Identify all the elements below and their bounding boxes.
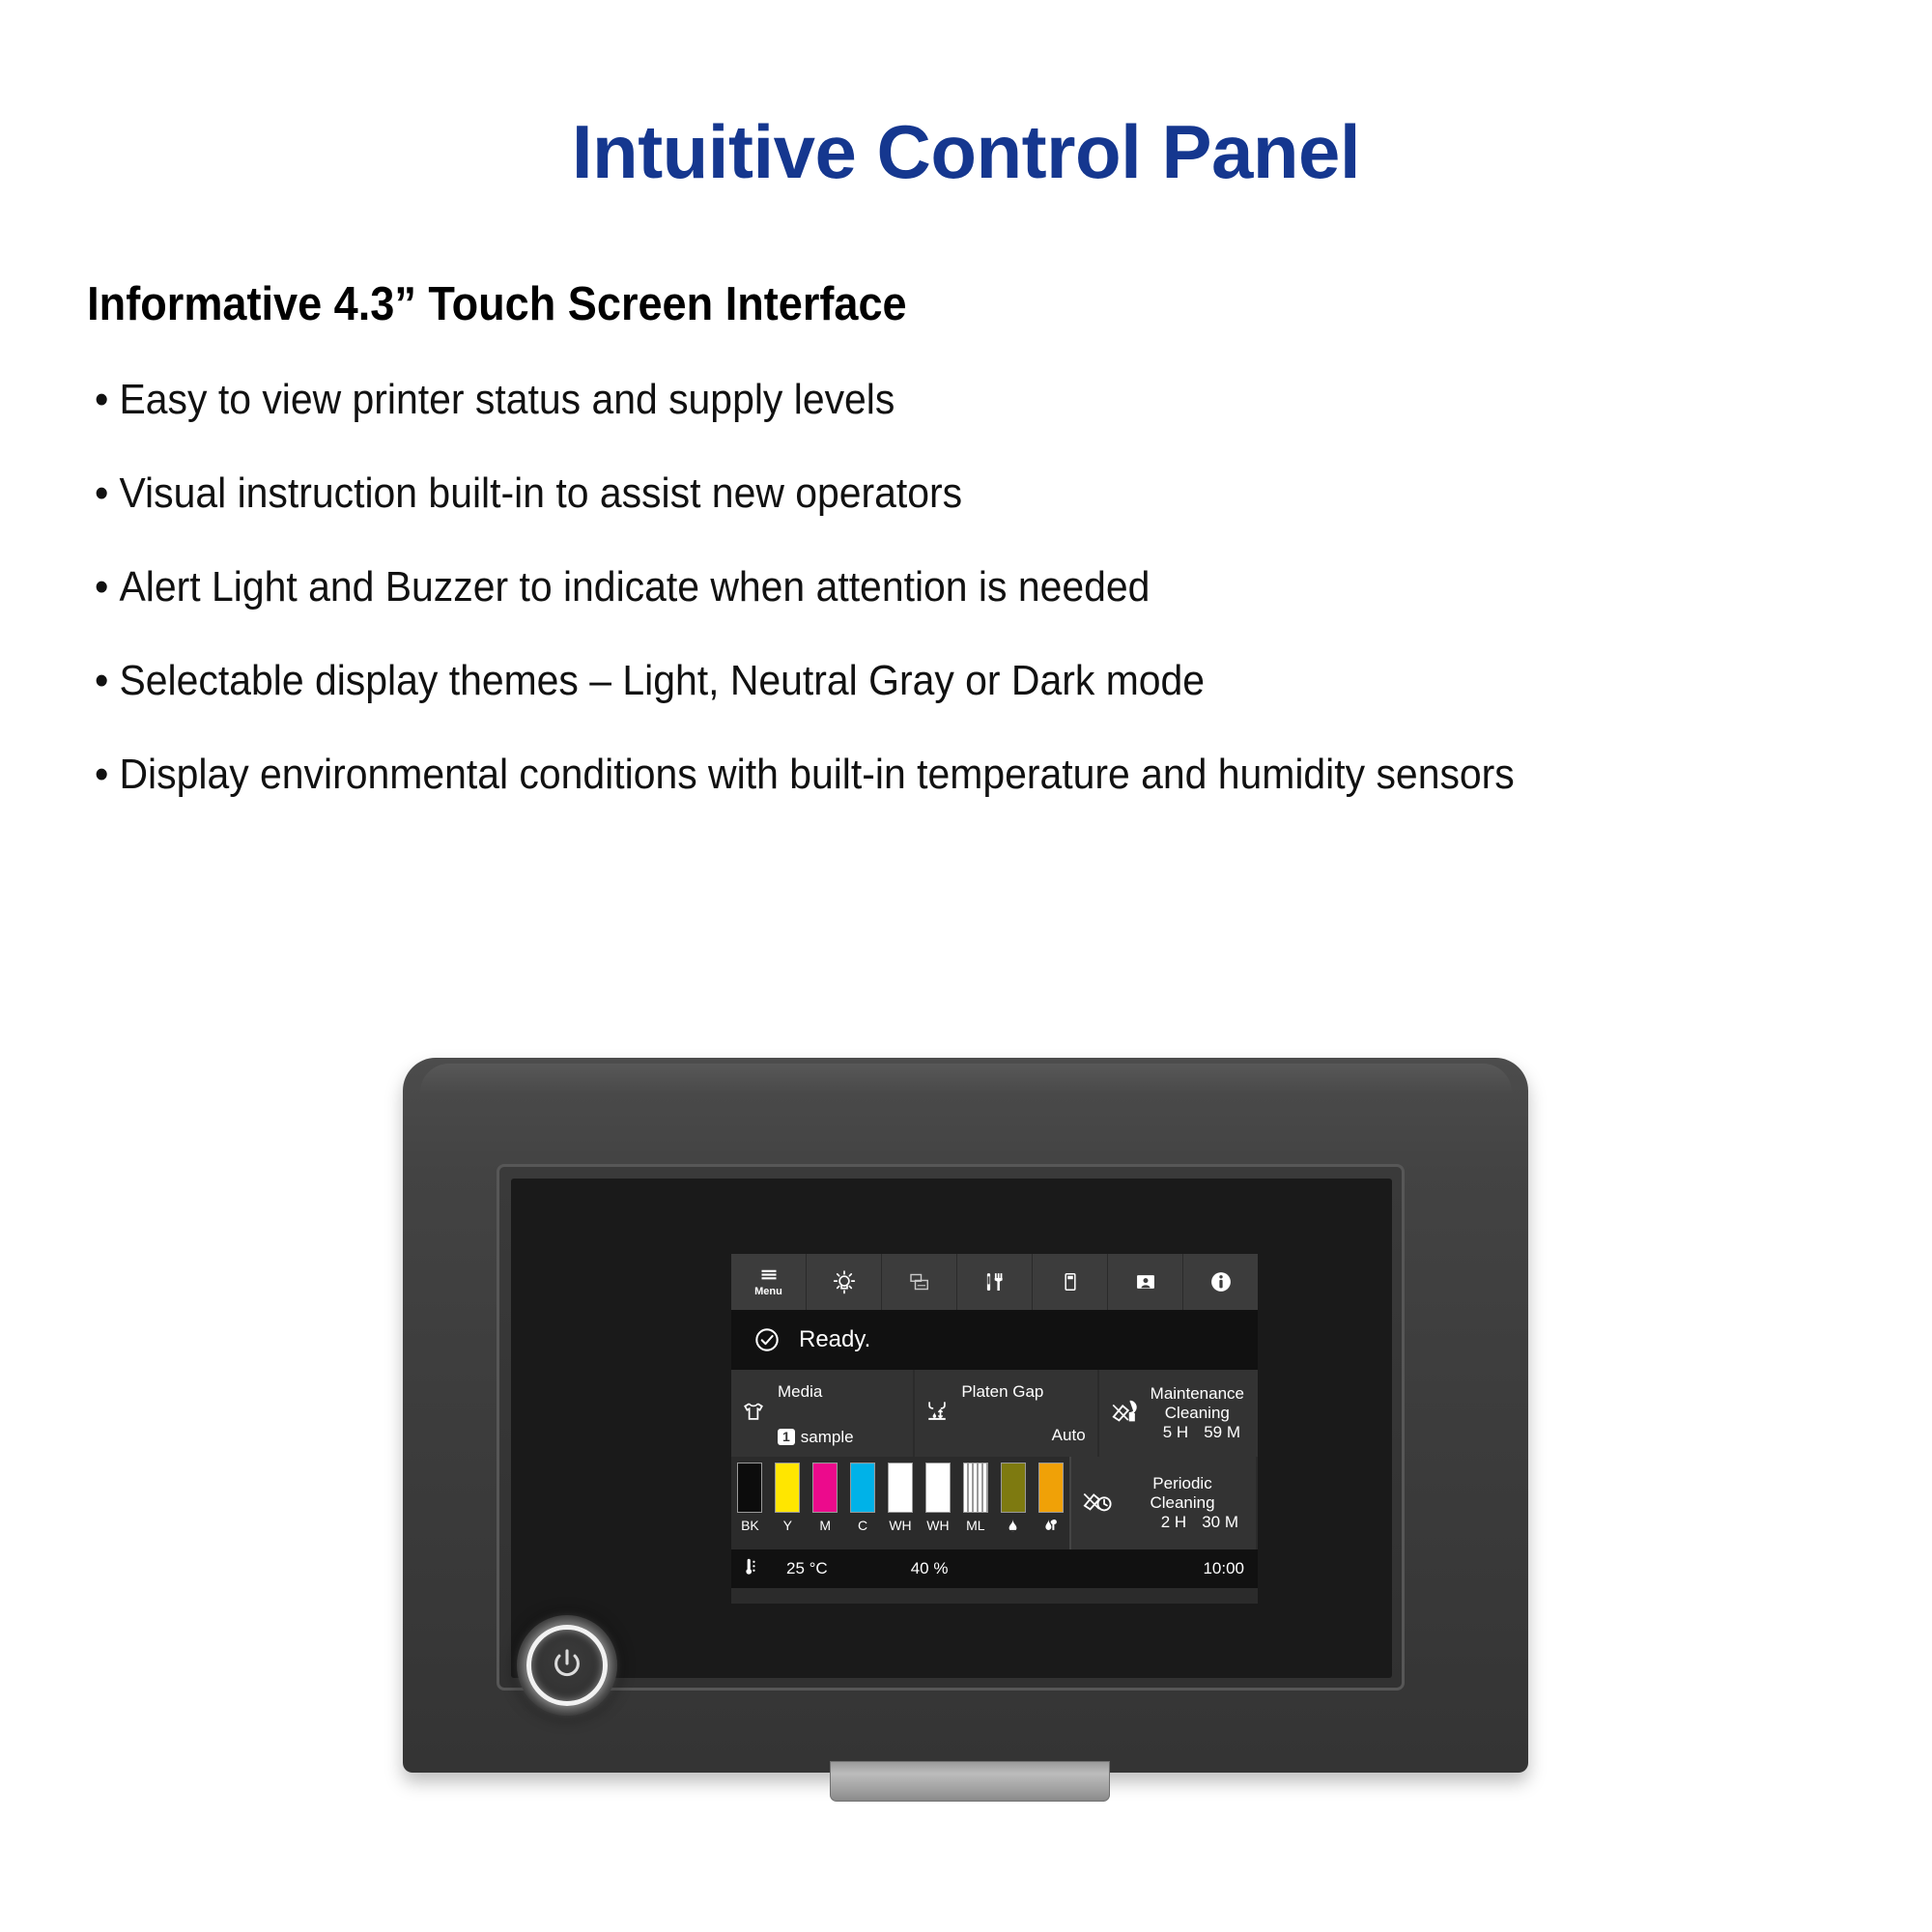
toolbar-button-menu[interactable]: Menu (731, 1254, 807, 1310)
lcd-status-bar: Ready. (731, 1310, 1258, 1370)
lcd-ink-row: BK Y M C (731, 1457, 1258, 1549)
env-clock-value: 10:00 (1203, 1559, 1244, 1578)
ink-cell[interactable]: Y (769, 1463, 807, 1532)
ink-label: ML (966, 1519, 984, 1532)
ink-cell-maintenance-part[interactable] (1032, 1463, 1069, 1538)
tile-periodic-minutes: 30 M (1202, 1513, 1238, 1532)
ink-level-swatch (812, 1463, 838, 1513)
section-subheading: Informative 4.3” Touch Screen Interface (0, 189, 1777, 328)
ink-cell[interactable]: C (844, 1463, 882, 1532)
tile-platen-gap[interactable]: Platen Gap Auto (915, 1370, 1098, 1457)
thermometer-icon (745, 1556, 759, 1582)
ink-level-swatch (850, 1463, 875, 1513)
tile-periodic-texts: Periodic Cleaning 2 H30 M (1122, 1474, 1248, 1532)
tile-media-value-group: 1 sample (778, 1429, 854, 1445)
housing-top-highlight (420, 1064, 1512, 1093)
check-circle-icon (753, 1325, 781, 1354)
tile-maintenance-line2: Cleaning (1165, 1404, 1230, 1422)
toolbar-button-light[interactable] (807, 1254, 882, 1310)
list-item-text: Easy to view printer status and supply l… (119, 376, 895, 423)
bullet-marker: • (95, 753, 108, 796)
toolbar-button-information[interactable] (1183, 1254, 1258, 1310)
list-item: •Alert Light and Buzzer to indicate when… (95, 566, 1804, 609)
tile-platen-gap-value: Auto (1052, 1427, 1086, 1443)
tile-platen-texts: Platen Gap Auto (959, 1370, 1089, 1457)
lcd-toolbar: Menu (731, 1254, 1258, 1310)
env-temperature-value: 25 °C (786, 1559, 828, 1578)
status-message: Ready. (799, 1328, 870, 1351)
ink-cell[interactable]: ML (956, 1463, 994, 1532)
platen-gap-icon (923, 1398, 952, 1430)
toolbar-button-user-card[interactable] (1108, 1254, 1183, 1310)
list-item-text: Selectable display themes – Light, Neutr… (119, 657, 1205, 704)
feature-bullet-list: •Easy to view printer status and supply … (0, 328, 1932, 796)
tile-maintenance-minutes: 59 M (1204, 1423, 1240, 1442)
list-item: •Display environmental conditions with b… (95, 753, 1804, 796)
tile-periodic-cleaning[interactable]: Periodic Cleaning 2 H30 M (1071, 1457, 1258, 1549)
lcd-info-row: Media 1 sample (731, 1370, 1258, 1457)
toolbar-button-job-queue[interactable] (882, 1254, 957, 1310)
list-item-text: Alert Light and Buzzer to indicate when … (119, 563, 1150, 611)
tile-maintenance-cleaning[interactable]: Maintenance Cleaning 5 H59 M (1099, 1370, 1258, 1457)
usb-drive-icon (1060, 1269, 1081, 1294)
tile-media-texts: Media 1 sample (776, 1370, 905, 1457)
light-bulb-icon (831, 1268, 858, 1295)
printer-control-panel-image: Menu (403, 1058, 1528, 1811)
ink-label: Y (783, 1519, 792, 1532)
tile-media[interactable]: Media 1 sample (731, 1370, 915, 1457)
ink-label: M (819, 1519, 831, 1532)
maintenance-cleaning-icon (1109, 1397, 1142, 1431)
tile-periodic-hours: 2 H (1161, 1513, 1186, 1532)
tile-media-value: sample (801, 1429, 854, 1445)
tile-maintenance-texts: Maintenance Cleaning 5 H59 M (1151, 1384, 1250, 1442)
env-humidity-value: 40 % (911, 1559, 949, 1578)
list-item-text: Display environmental conditions with bu… (119, 751, 1514, 798)
periodic-cleaning-icon (1081, 1487, 1114, 1520)
ink-cell-waste[interactable] (994, 1463, 1032, 1538)
power-button[interactable] (517, 1615, 617, 1716)
display-glass: Menu (511, 1179, 1392, 1678)
job-queue-icon (906, 1270, 933, 1293)
list-item-text: Visual instruction built-in to assist ne… (119, 469, 962, 517)
toolbar-button-maintenance[interactable] (957, 1254, 1033, 1310)
ink-level-swatch (888, 1463, 913, 1513)
ink-level-swatch (1038, 1463, 1064, 1513)
tile-periodic-time: 2 H30 M (1122, 1513, 1242, 1532)
maintenance-part-icon (1042, 1517, 1059, 1538)
tshirt-icon (739, 1398, 768, 1430)
lcd-environment-bar: 25 °C 40 % 10:00 (731, 1549, 1258, 1588)
ink-level-swatch (737, 1463, 762, 1513)
bullet-marker: • (95, 379, 108, 421)
tile-maintenance-hours: 5 H (1163, 1423, 1188, 1442)
ink-label: BK (741, 1519, 759, 1532)
ink-cell[interactable]: WH (919, 1463, 956, 1532)
tile-periodic-line1: Periodic (1152, 1474, 1211, 1492)
toolbar-button-menu-label: Menu (754, 1287, 782, 1297)
bullet-marker: • (95, 566, 108, 609)
display-bezel: Menu (497, 1164, 1405, 1690)
bullet-marker: • (95, 660, 108, 702)
menu-icon (756, 1266, 781, 1286)
bullet-marker: • (95, 472, 108, 515)
list-item: •Visual instruction built-in to assist n… (95, 472, 1804, 515)
list-item: •Easy to view printer status and supply … (95, 379, 1804, 421)
tile-periodic-line2: Cleaning (1150, 1493, 1214, 1512)
media-slot-badge: 1 (778, 1429, 795, 1445)
ink-supply-group[interactable]: BK Y M C (731, 1457, 1071, 1549)
tile-maintenance-time: 5 H59 M (1151, 1423, 1244, 1442)
ink-cell[interactable]: BK (731, 1463, 769, 1532)
ink-label: C (858, 1519, 867, 1532)
ink-level-swatch (775, 1463, 800, 1513)
ink-label: WH (889, 1519, 911, 1532)
ink-cell[interactable]: M (807, 1463, 844, 1532)
toolbar-button-usb[interactable] (1033, 1254, 1108, 1310)
ink-label: WH (926, 1519, 949, 1532)
tile-platen-gap-title: Platen Gap (961, 1383, 1043, 1400)
ink-level-swatch (1001, 1463, 1026, 1513)
list-item: •Selectable display themes – Light, Neut… (95, 660, 1804, 702)
waste-ink-icon (1005, 1517, 1021, 1538)
maintenance-tools-icon (982, 1269, 1008, 1294)
tile-maintenance-line1: Maintenance (1151, 1384, 1244, 1403)
power-icon (549, 1645, 585, 1687)
lcd-screen[interactable]: Menu (731, 1254, 1258, 1604)
panel-latch-tab (830, 1761, 1110, 1802)
user-card-icon (1132, 1271, 1159, 1293)
control-panel-housing: Menu (403, 1058, 1528, 1773)
ink-cell[interactable]: WH (882, 1463, 920, 1532)
information-icon (1208, 1269, 1234, 1294)
ink-level-swatch (963, 1463, 988, 1513)
ink-level-swatch (925, 1463, 951, 1513)
page-title: Intuitive Control Panel (0, 0, 1932, 189)
tile-media-title: Media (778, 1383, 822, 1400)
